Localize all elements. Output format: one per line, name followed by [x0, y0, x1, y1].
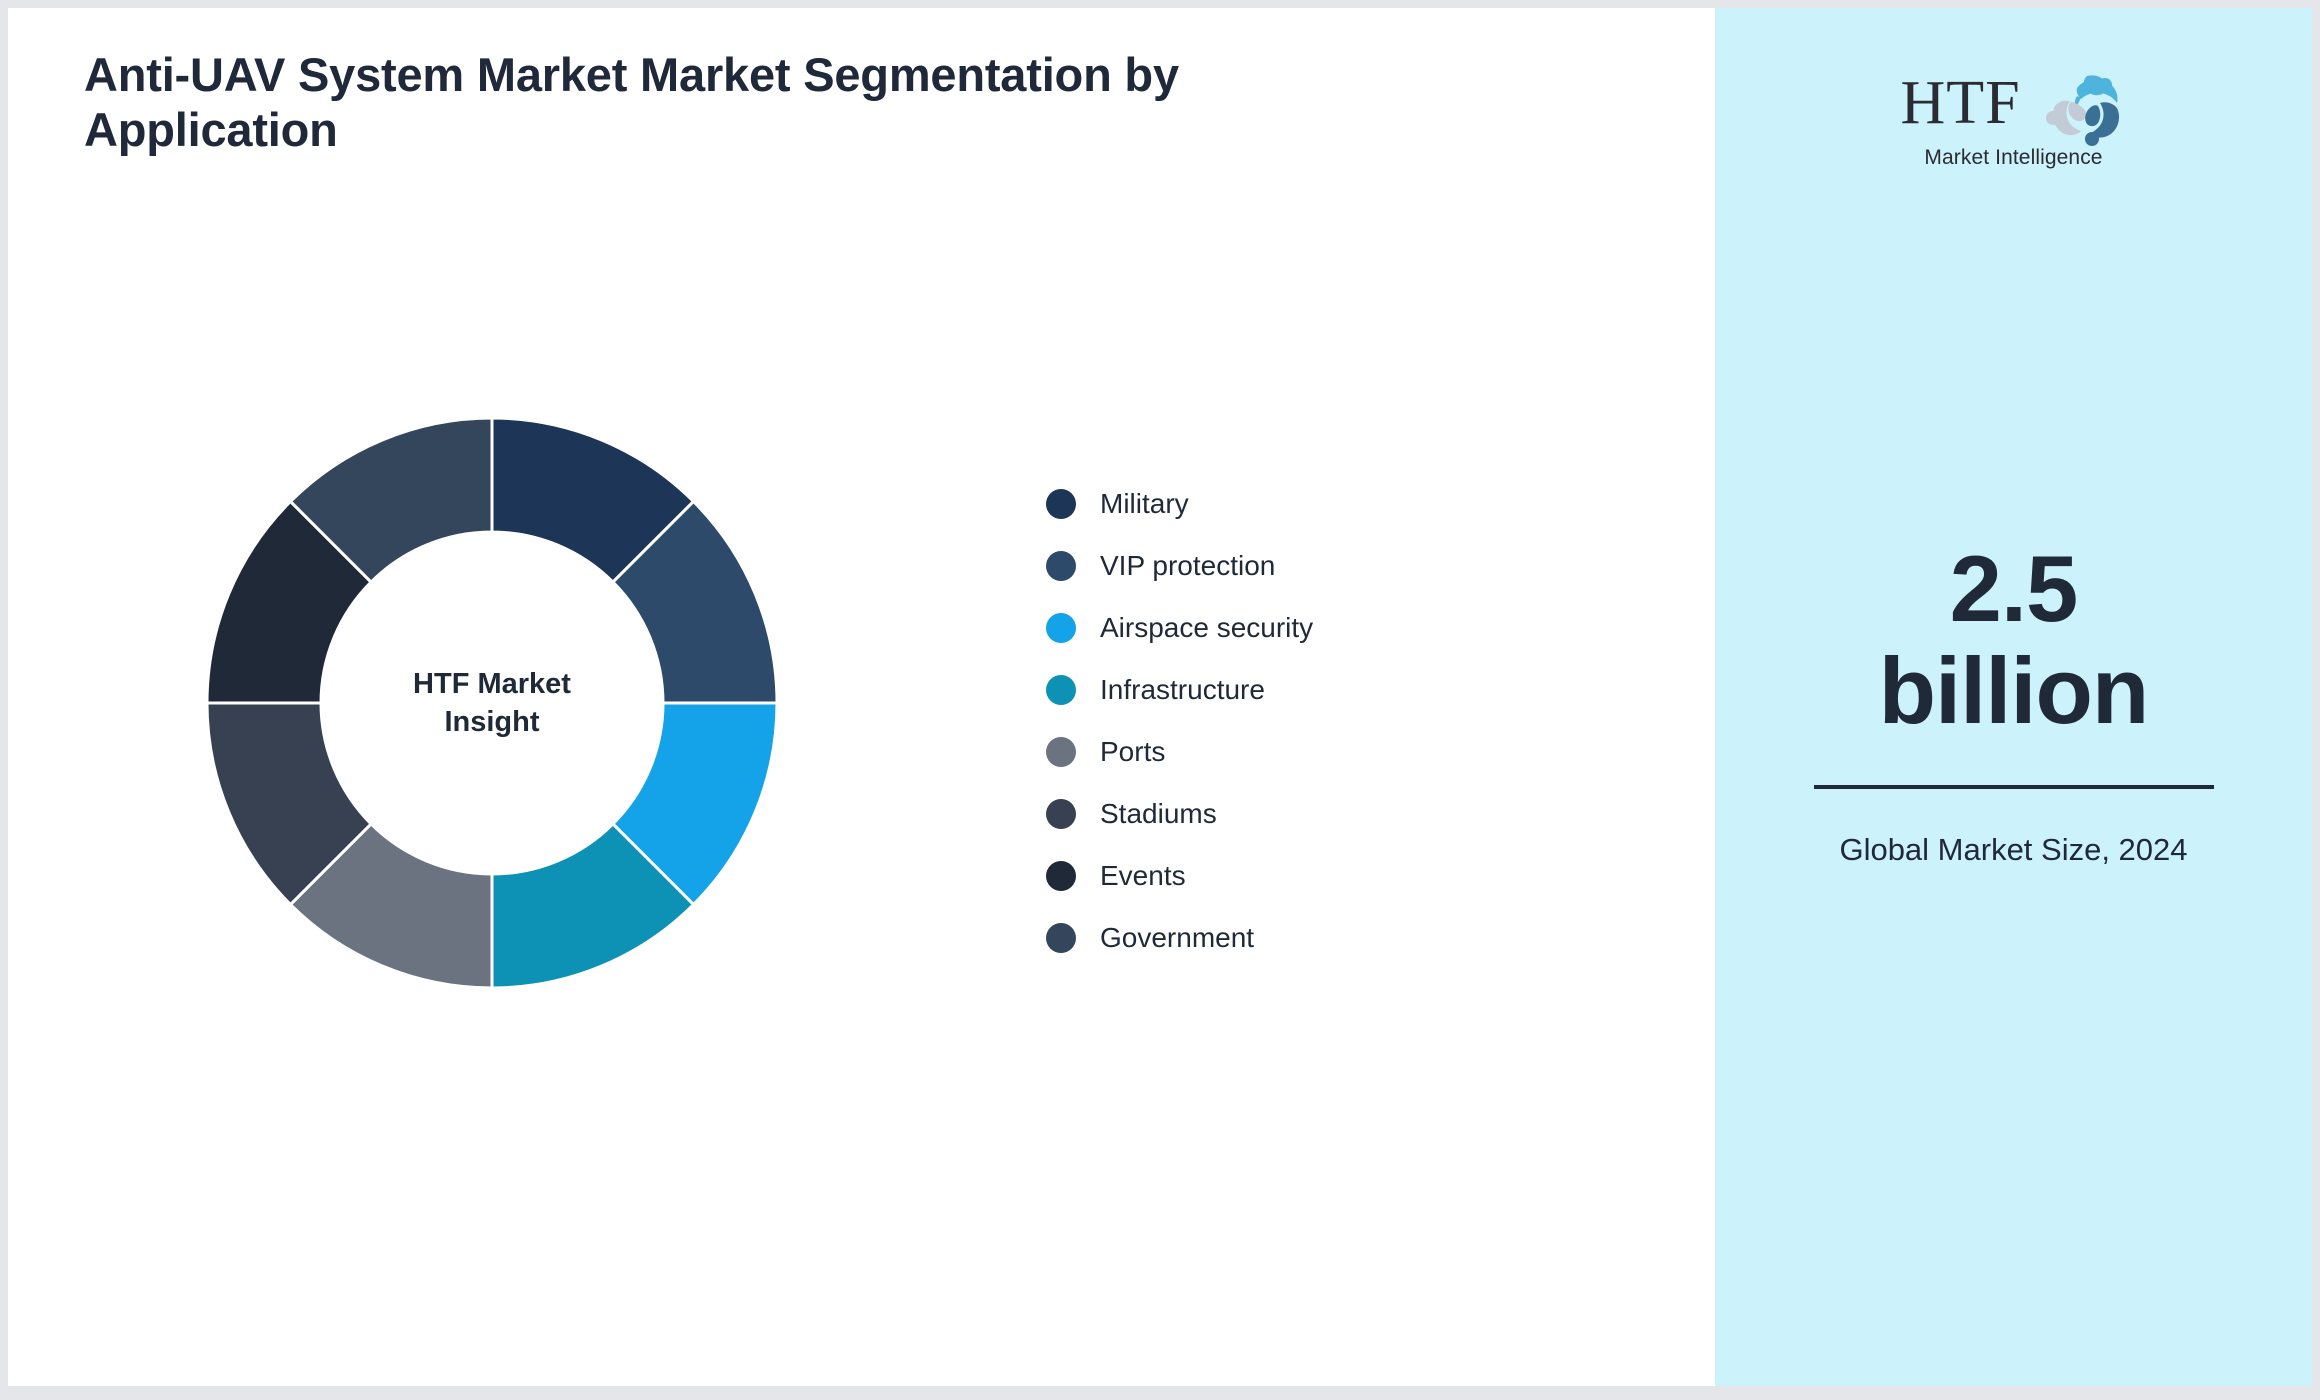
legend-item-label: Events	[1100, 860, 1186, 892]
logo-wordmark: HTF	[1901, 72, 2021, 134]
legend-item[interactable]: Ports	[1046, 721, 1526, 783]
legend-item[interactable]: Airspace security	[1046, 597, 1526, 659]
legend-item[interactable]: Government	[1046, 907, 1526, 969]
donut-chart: HTF Market Insight	[207, 418, 777, 988]
donut-chart-svg	[207, 418, 777, 988]
legend-item-label: Infrastructure	[1100, 674, 1265, 706]
legend-item[interactable]: VIP protection	[1046, 535, 1526, 597]
legend-item[interactable]: Stadiums	[1046, 783, 1526, 845]
legend-item-label: Military	[1100, 488, 1189, 520]
stat-divider	[1814, 785, 2214, 789]
market-size-stat: 2.5 billion Global Market Size, 2024	[1804, 538, 2224, 870]
htf-logo: HTF	[1899, 70, 2129, 178]
legend-item[interactable]: Events	[1046, 845, 1526, 907]
stat-caption: Global Market Size, 2024	[1804, 829, 2224, 870]
legend-item-label: Ports	[1100, 736, 1165, 768]
infographic-card: Anti-UAV System Market Market Segmentati…	[8, 8, 2312, 1386]
legend-item-label: Airspace security	[1100, 612, 1313, 644]
logo-tagline: Market Intelligence	[1899, 146, 2129, 170]
legend-color-swatch-icon	[1046, 861, 1076, 891]
main-content: Anti-UAV System Market Market Segmentati…	[8, 8, 1715, 1386]
legend-color-swatch-icon	[1046, 613, 1076, 643]
legend-item-label: Stadiums	[1100, 798, 1217, 830]
legend-item-label: Government	[1100, 922, 1254, 954]
stat-value: 2.5 billion	[1804, 538, 2224, 741]
legend-color-swatch-icon	[1046, 923, 1076, 953]
legend-color-swatch-icon	[1046, 675, 1076, 705]
legend-color-swatch-icon	[1046, 799, 1076, 829]
legend-item[interactable]: Infrastructure	[1046, 659, 1526, 721]
page-background: Anti-UAV System Market Market Segmentati…	[0, 0, 2320, 1400]
legend-item-label: VIP protection	[1100, 550, 1275, 582]
legend-color-swatch-icon	[1046, 489, 1076, 519]
legend-item[interactable]: Military	[1046, 473, 1526, 535]
page-title: Anti-UAV System Market Market Segmentati…	[84, 48, 1184, 158]
logo-row: HTF	[1899, 70, 2129, 146]
sidebar-panel: HTF	[1715, 8, 2312, 1386]
htf-swirl-icon	[2043, 70, 2129, 146]
legend-color-swatch-icon	[1046, 737, 1076, 767]
legend-color-swatch-icon	[1046, 551, 1076, 581]
chart-legend: MilitaryVIP protectionAirspace securityI…	[1046, 473, 1526, 969]
